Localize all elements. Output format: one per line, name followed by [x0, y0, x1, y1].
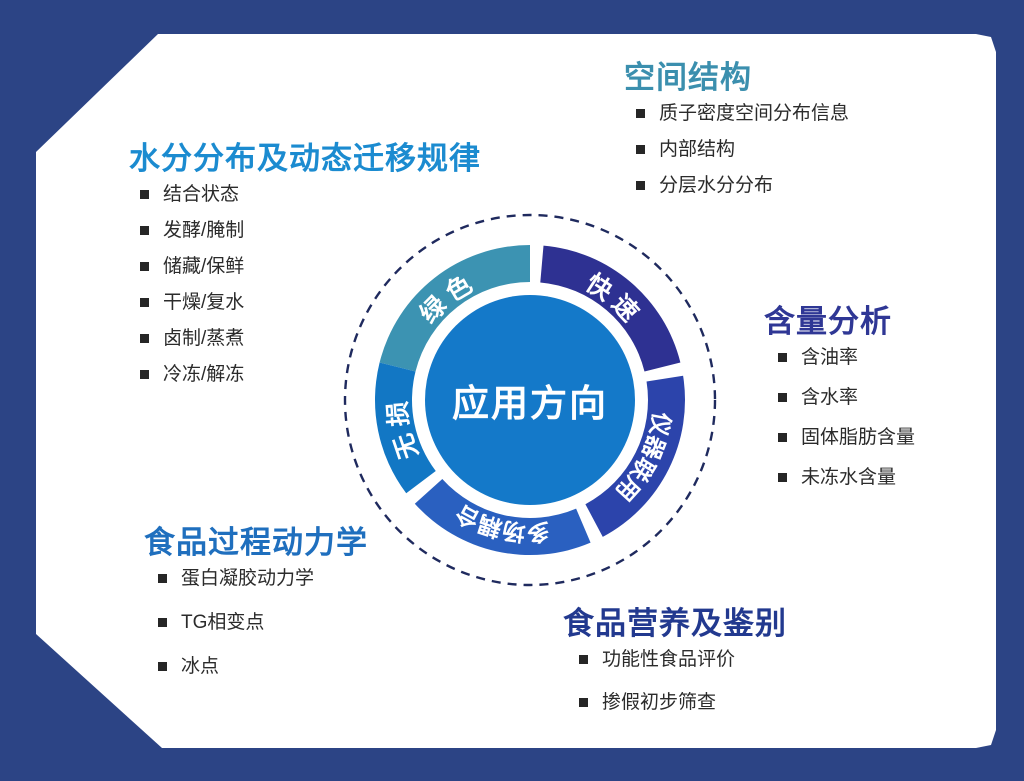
section-title-nutrition: 食品营养及鉴别: [563, 605, 787, 644]
list-item: TG相变点: [158, 613, 368, 632]
bullet-list-content: 含油率含水率固体脂肪含量未冻水含量: [778, 348, 915, 487]
bullet-square-icon: [636, 109, 645, 118]
list-item-label: TG相变点: [181, 613, 264, 632]
bullet-square-icon: [636, 181, 645, 190]
section-title-water: 水分分布及动态迁移规律: [129, 140, 481, 179]
section-title-space: 空间结构: [624, 59, 849, 98]
list-item-label: 未冻水含量: [801, 468, 896, 487]
list-item: 内部结构: [636, 140, 849, 159]
bullet-square-icon: [579, 655, 588, 664]
list-item: 冰点: [158, 657, 368, 676]
list-item: 掺假初步筛查: [579, 693, 787, 712]
list-item-label: 功能性食品评价: [602, 650, 735, 669]
bullet-square-icon: [158, 662, 167, 671]
bullet-square-icon: [579, 698, 588, 707]
list-item: 含油率: [778, 348, 915, 367]
list-item-label: 质子密度空间分布信息: [659, 104, 849, 123]
list-item: 功能性食品评价: [579, 650, 787, 669]
bullet-square-icon: [140, 190, 149, 199]
bullet-square-icon: [778, 353, 787, 362]
list-item: 含水率: [778, 388, 915, 407]
bullet-square-icon: [140, 298, 149, 307]
bullet-square-icon: [140, 262, 149, 271]
bullet-square-icon: [636, 145, 645, 154]
list-item-label: 储藏/保鲜: [163, 257, 244, 276]
list-item-label: 卤制/蒸煮: [163, 329, 244, 348]
application-direction-donut: 绿色快速仪器联用多场耦合无损 应用方向: [330, 200, 730, 600]
list-item-label: 冰点: [181, 657, 219, 676]
bullet-square-icon: [778, 473, 787, 482]
bullet-square-icon: [158, 574, 167, 583]
center-disc: [425, 295, 635, 505]
bullet-square-icon: [140, 370, 149, 379]
bullet-square-icon: [140, 226, 149, 235]
list-item-label: 掺假初步筛查: [602, 693, 716, 712]
list-item-label: 结合状态: [163, 185, 239, 204]
list-item-label: 干燥/复水: [163, 293, 244, 312]
bullet-square-icon: [158, 618, 167, 627]
bullet-square-icon: [140, 334, 149, 343]
section-nutrition-identification: 食品营养及鉴别 功能性食品评价掺假初步筛查: [563, 605, 787, 736]
list-item-label: 发酵/腌制: [163, 221, 244, 240]
list-item-label: 含油率: [801, 348, 858, 367]
list-item-label: 固体脂肪含量: [801, 428, 915, 447]
list-item-label: 分层水分分布: [659, 176, 773, 195]
list-item: 未冻水含量: [778, 468, 915, 487]
list-item-label: 内部结构: [659, 140, 735, 159]
list-item: 质子密度空间分布信息: [636, 104, 849, 123]
list-item: 分层水分分布: [636, 176, 849, 195]
list-item-label: 蛋白凝胶动力学: [181, 569, 314, 588]
bullet-list-nutrition: 功能性食品评价掺假初步筛查: [579, 650, 787, 712]
list-item-label: 冷冻/解冻: [163, 365, 244, 384]
section-title-content: 含量分析: [764, 303, 915, 342]
section-spatial-structure: 空间结构 质子密度空间分布信息内部结构分层水分分布: [624, 59, 849, 212]
bullet-square-icon: [778, 393, 787, 402]
list-item: 固体脂肪含量: [778, 428, 915, 447]
bullet-list-space: 质子密度空间分布信息内部结构分层水分分布: [636, 104, 849, 195]
list-item-label: 含水率: [801, 388, 858, 407]
section-content-analysis: 含量分析 含油率含水率固体脂肪含量未冻水含量: [764, 303, 915, 508]
bullet-square-icon: [778, 433, 787, 442]
